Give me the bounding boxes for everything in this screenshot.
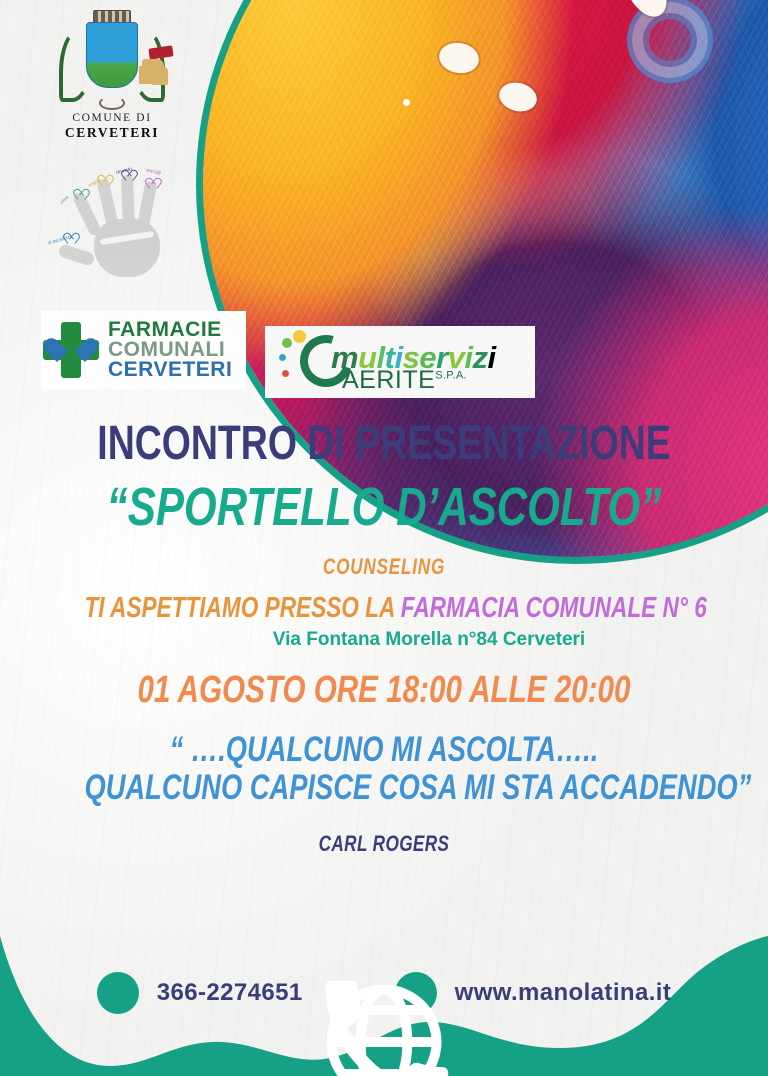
comune-di-cerveteri-logo: COMUNE DI CERVETERI [47, 8, 177, 148]
heart-icon [57, 339, 85, 364]
event-datetime: 01 AGOSTO ORE 18:00 ALLE 20:00 [84, 671, 683, 709]
farmacie-line1: FARMACIE [108, 320, 232, 340]
logo-dot-yellow [293, 330, 306, 343]
poster-text-content: INCONTRO DI PRESENTAZIONE “SPORTELLO D’A… [0, 420, 768, 857]
comune-label-line1: COMUNE DI [47, 112, 177, 124]
red-banner-icon [148, 45, 173, 59]
handprint-logo: crea sogna inventa sorridi ti ascolterò [36, 163, 186, 283]
palm-shape [94, 219, 160, 277]
poster-subtitle: “SPORTELLO D’ASCOLTO” [84, 480, 683, 534]
footer-band: 366-2274651 www.manolatina.it [0, 936, 768, 1076]
comune-label-line2: CERVETERI [47, 125, 177, 141]
deer-icon [142, 59, 164, 83]
shield-icon [86, 22, 138, 88]
pharmacy-cross-icon [43, 322, 99, 378]
sparkle-dot [403, 99, 410, 106]
venue-prefix-text: TI ASPETTIAMO PRESSO LA [84, 592, 400, 624]
farmacie-line2: COMUNALI [108, 340, 232, 360]
farmacie-wordmark: FARMACIE COMUNALI CERVETERI [108, 320, 232, 380]
globe-icon [395, 972, 437, 1014]
farmacie-comunali-cerveteri-logo: FARMACIE COMUNALI CERVETERI [41, 311, 246, 389]
heart-icon [76, 185, 87, 195]
fingertip-word: ti ascolterò [48, 234, 74, 247]
logo-dot-green [282, 338, 292, 348]
venue-name-text: FARMACIA COMUNALE N° 6 [401, 592, 707, 624]
caerite-wordmark: AERITES.P.A. [342, 368, 467, 393]
quote-author: CARL ROGERS [84, 831, 683, 857]
logo-dot-blue [279, 354, 286, 361]
quote-block: “ ….QUALCUNO MI ASCOLTA….. QUALCUNO CAPI… [0, 731, 768, 807]
page-title: INCONTRO DI PRESENTAZIONE [84, 420, 683, 468]
website-contact[interactable]: www.manolatina.it [395, 972, 672, 1014]
ribbon-bow-icon [99, 96, 125, 110]
venue-line: TI ASPETTIAMO PRESSO LA FARMACIA COMUNAL… [84, 594, 683, 623]
counseling-label: COUNSELING [84, 554, 683, 580]
spa-suffix: S.P.A. [435, 370, 467, 382]
quote-line-2: QUALCUNO CAPISCE COSA MI STA ACCADENDO” [84, 769, 683, 807]
thumb-shape [57, 243, 95, 266]
poster-canvas: COMUNE DI CERVETERI crea sogna inventa s… [0, 0, 768, 1076]
logo-dot-red [282, 370, 289, 377]
farmacie-line3: CERVETERI [108, 360, 232, 380]
caerite-text: AERITE [342, 366, 435, 394]
contact-row: 366-2274651 www.manolatina.it [0, 972, 768, 1014]
swirl-motif-icon [627, 0, 713, 83]
coat-of-arms-icon [47, 8, 177, 112]
quote-line-1: “ ….QUALCUNO MI ASCOLTA….. [84, 731, 683, 769]
venue-address: Via Fontana Morella n°84 Cerveteri [90, 629, 768, 651]
multiservizi-caerite-logo: multiservizi AERITES.P.A. [265, 326, 535, 398]
fingertip-word: crea [59, 195, 70, 206]
heart-icon [100, 171, 111, 181]
